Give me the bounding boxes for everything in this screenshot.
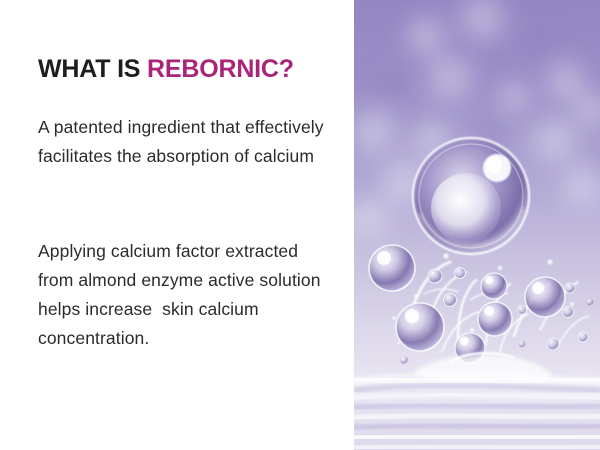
body-paragraph-2: Applying calcium factor extracted from a… <box>38 237 338 353</box>
body-paragraph-1: A patented ingredient that effectively f… <box>38 113 338 171</box>
page-title: WHAT IS REBORNIC? <box>38 54 294 84</box>
text-panel: WHAT IS REBORNIC? A patented ingredient … <box>0 0 354 450</box>
product-image <box>354 0 600 450</box>
large-bubble <box>413 138 529 254</box>
promo-slide: WHAT IS REBORNIC? A patented ingredient … <box>0 0 600 450</box>
headline-brand-name: REBORNIC? <box>147 55 294 83</box>
headline-prefix: WHAT IS <box>38 55 147 83</box>
water-bubbles-illustration <box>354 0 600 450</box>
